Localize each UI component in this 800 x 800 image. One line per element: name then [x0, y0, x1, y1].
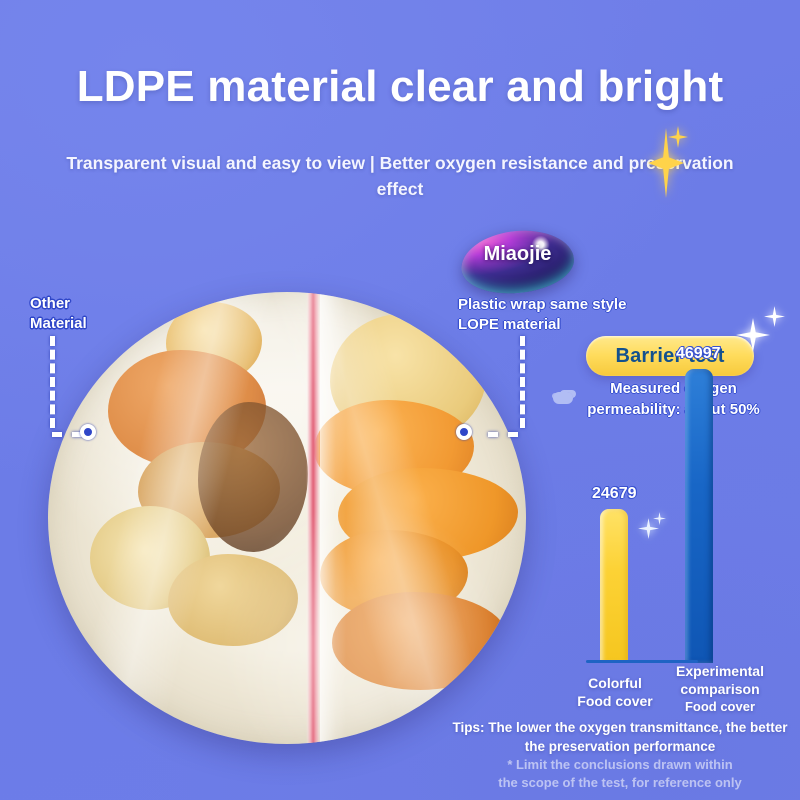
- tips-line1: Tips: The lower the oxygen transmittance…: [445, 718, 795, 737]
- callout-line-left-vertical: [50, 336, 55, 428]
- tips-faint-line2: the scope of the test, for reference onl…: [445, 774, 795, 792]
- measured-line2: permeability: about 50%: [556, 399, 791, 420]
- food-plate-photo: [48, 292, 526, 744]
- tips-disclaimer: * Limit the conclusions drawn within the…: [445, 756, 795, 792]
- callout-label-ldpe-material: Plastic wrap same style LOPE material: [458, 295, 648, 335]
- callout-marker-left: [80, 424, 96, 440]
- bar-cat-0-line1: Colorful: [566, 674, 664, 692]
- bar-cat-1-line3: Food cover: [658, 698, 782, 716]
- barrier-bar-chart: 24679 46997 Colorful Food cover Experime…: [560, 420, 800, 740]
- callout-other-line2: Material: [30, 314, 140, 334]
- measured-permeability-text: Measured oxygen permeability: about 50%: [556, 378, 791, 420]
- sparkle-icon: [764, 306, 785, 327]
- callout-label-other-material: Other Material: [30, 294, 140, 334]
- bar-value-colorful: 24679: [592, 485, 637, 503]
- bar-cat-1-line1: Experimental: [658, 662, 782, 680]
- bar-value-experimental: 46997: [676, 345, 721, 363]
- tips-line2: the preservation performance: [445, 737, 795, 756]
- tips-text: Tips: The lower the oxygen transmittance…: [445, 718, 795, 756]
- callout-line-right-horizontal: [488, 432, 518, 437]
- bar-category-label-experimental: Experimental comparison Food cover: [658, 662, 782, 716]
- brand-name: Miaojie: [470, 243, 565, 266]
- barrier-test-badge: Barrier test: [586, 336, 754, 376]
- callout-line-right-vertical: [520, 336, 525, 428]
- bar-category-label-colorful: Colorful Food cover: [566, 674, 664, 710]
- bar-colorful-food-cover: [600, 509, 628, 663]
- callout-other-line1: Other: [30, 294, 140, 314]
- callout-ldpe-line1: Plastic wrap same style: [458, 295, 648, 315]
- bar-experimental-food-cover: [685, 369, 713, 663]
- bar-cat-0-line2: Food cover: [566, 692, 664, 710]
- bar-cat-1-line2: comparison: [658, 680, 782, 698]
- sparkle-icon: [668, 126, 688, 148]
- page-subtitle: Transparent visual and easy to view | Be…: [60, 150, 740, 202]
- poster-canvas: LDPE material clear and bright Transpare…: [0, 0, 800, 800]
- callout-ldpe-line2: LOPE material: [458, 315, 648, 335]
- callout-line-left-horizontal: [52, 432, 82, 437]
- callout-marker-right: [456, 424, 472, 440]
- tips-faint-line1: * Limit the conclusions drawn within: [445, 756, 795, 774]
- page-title: LDPE material clear and bright: [0, 62, 800, 112]
- plastic-wrap-sheen: [48, 292, 526, 744]
- measured-line1: Measured oxygen: [556, 378, 791, 399]
